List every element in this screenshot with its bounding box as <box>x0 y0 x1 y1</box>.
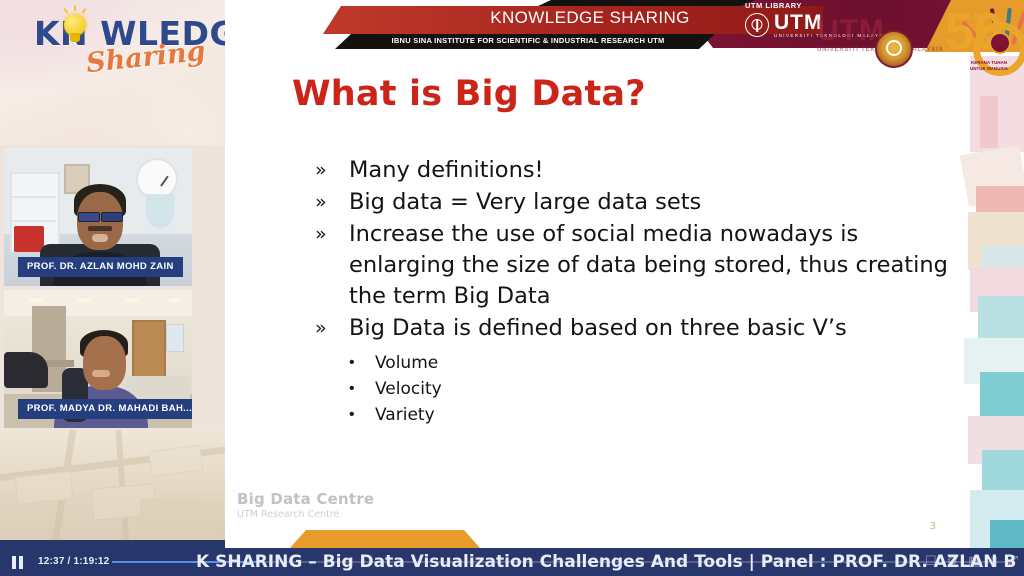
sub-bullet-item: • Variety <box>349 402 955 428</box>
utm-watermark-seal-icon <box>875 30 913 68</box>
sub-bullet-text: Velocity <box>375 376 442 402</box>
slide-title: What is Big Data? <box>292 74 646 114</box>
bullet-text: Big Data is defined based on three basic… <box>349 313 847 344</box>
sub-bullet-item: • Velocity <box>349 376 955 402</box>
sub-bullet-marker: • <box>349 402 375 428</box>
participant-1-name: PROF. DR. AZLAN MOHD ZAIN <box>18 257 183 277</box>
presentation-slide: UTM LIBRARY KNOWLEDGE SHARING IBNU SINA … <box>225 0 1024 548</box>
utm-seal-icon <box>745 13 769 37</box>
bullet-text: Many definitions! <box>349 155 544 186</box>
sub-bullet-marker: • <box>349 350 375 376</box>
lightbulb-icon <box>60 8 90 44</box>
left-panel: XKN WLEDGE Sharing <box>0 0 225 548</box>
sub-bullet-text: Volume <box>375 350 438 376</box>
bullet-marker: » <box>315 219 349 250</box>
bullet-item: » Increase the use of social media nowad… <box>315 219 955 312</box>
slide-bullet-list: » Many definitions! » Big data = Very la… <box>315 155 955 428</box>
slide-banner: UTM LIBRARY KNOWLEDGE SHARING IBNU SINA … <box>225 0 1024 56</box>
banner-title: KNOWLEDGE SHARING <box>375 8 805 28</box>
video-title[interactable]: K SHARING – Big Data Visualization Chall… <box>196 550 1024 574</box>
slide-footer-orange-shape <box>290 530 480 548</box>
bullet-item: » Many definitions! <box>315 155 955 186</box>
video-tile-mahadi[interactable]: PROF. MADYA DR. MAHADI BAH... <box>4 290 192 428</box>
banner-subtitle: IBNU SINA INSTITUTE FOR SCIENTIFIC & IND… <box>343 36 713 45</box>
theater-icon[interactable]: ▯ <box>990 553 997 570</box>
sub-bullet-item: • Volume <box>349 350 955 376</box>
anniversary-50-logo: 50 KERANA TUHAN UNTUK MANUSIA <box>943 2 1023 68</box>
sub-bullet-text: Variety <box>375 402 435 428</box>
time-display: 12:37 / 1:19:12 <box>38 556 109 567</box>
slide-footer-brand: Big Data Centre UTM Research Centre <box>237 490 374 520</box>
footer-brand-line1: Big Data Centre <box>237 490 374 508</box>
player-right-controls: ☐ ⚙ ▦ ▯ ⤢ <box>925 553 1018 570</box>
anniversary-tagline: KERANA TUHAN UNTUK MANUSIA <box>963 60 1015 71</box>
bullet-text: Increase the use of social media nowaday… <box>349 219 955 312</box>
bullet-text: Big data = Very large data sets <box>349 187 701 218</box>
bullet-item: » Big data = Very large data sets <box>315 187 955 218</box>
fullscreen-icon[interactable]: ⤢ <box>1008 553 1018 570</box>
aerial-photo-decor <box>0 430 225 548</box>
settings-icon[interactable]: ⚙ <box>946 553 958 570</box>
video-player-controls: 12:37 / 1:19:12 K SHARING – Big Data Vis… <box>0 548 1024 576</box>
slide-sub-bullet-list: • Volume • Velocity • Variety <box>349 350 955 428</box>
screen: XKN WLEDGE Sharing <box>0 0 1024 576</box>
bullet-item: » Big Data is defined based on three bas… <box>315 313 955 344</box>
left-panel-backdrop-bottom <box>0 430 225 548</box>
miniplayer-icon[interactable]: ▦ <box>968 553 980 570</box>
knowledge-sharing-logo: XKN WLEDGE Sharing <box>8 6 208 86</box>
video-tile-azlan[interactable]: PROF. DR. AZLAN MOHD ZAIN <box>4 148 192 286</box>
pause-icon[interactable] <box>12 556 25 569</box>
footer-brand-line2: UTM Research Centre <box>237 509 374 520</box>
slide-page-number: 3 <box>930 521 936 532</box>
bullet-marker: » <box>315 155 349 186</box>
bullet-marker: » <box>315 187 349 218</box>
left-panel-bottom-strip <box>0 540 225 548</box>
anniversary-badge-icon <box>989 32 1011 54</box>
participant-2-name: PROF. MADYA DR. MAHADI BAH... <box>18 399 192 419</box>
sub-bullet-marker: • <box>349 376 375 402</box>
bullet-marker: » <box>315 313 349 344</box>
captions-icon[interactable]: ☐ <box>925 553 937 570</box>
